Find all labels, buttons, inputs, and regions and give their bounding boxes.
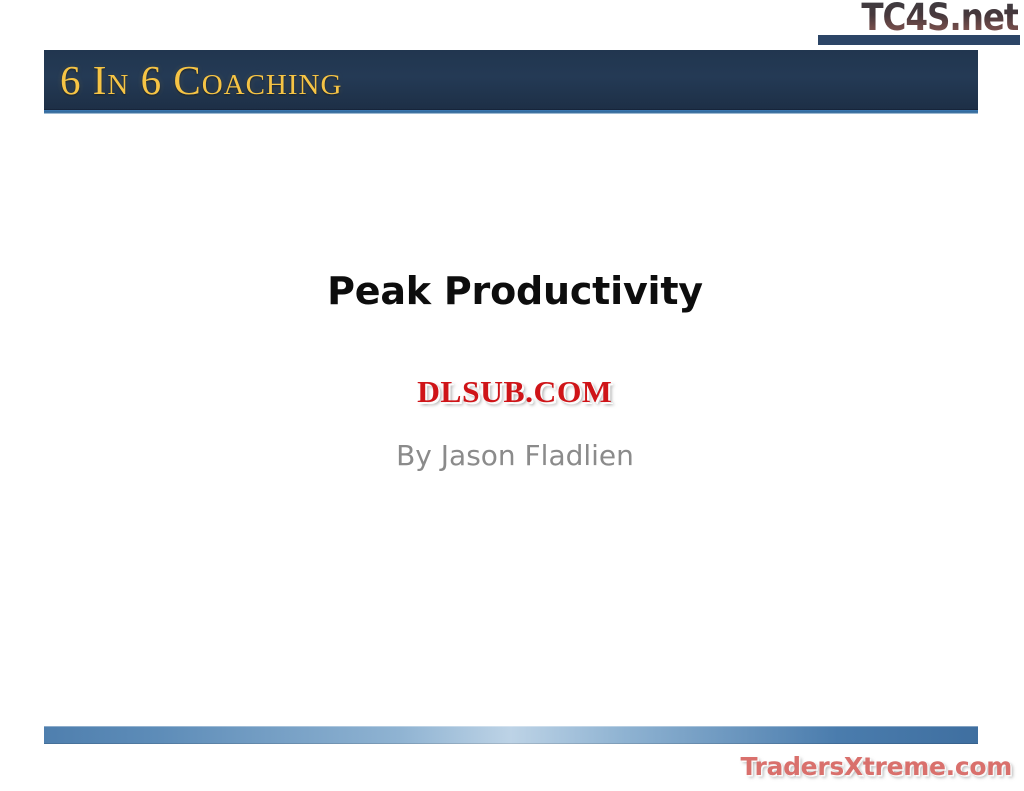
slide-byline: By Jason Fladlien — [0, 438, 1024, 474]
dlsub-watermark-text: DLSUB.COM — [417, 374, 612, 410]
presentation-slide: TC4S.net 6 In 6 Coaching Peak Productivi… — [0, 0, 1024, 791]
tradersxtreme-watermark-text: TradersXtreme.com — [740, 752, 1012, 782]
slide-content: Peak Productivity DLSUB.COM By Jason Fla… — [0, 0, 1024, 791]
footer-divider-bar — [44, 726, 978, 744]
tradersxtreme-watermark: TradersXtreme.com — [740, 752, 1012, 782]
dlsub-watermark: DLSUB.COM — [0, 374, 1024, 410]
slide-title: Peak Productivity — [0, 268, 1024, 314]
